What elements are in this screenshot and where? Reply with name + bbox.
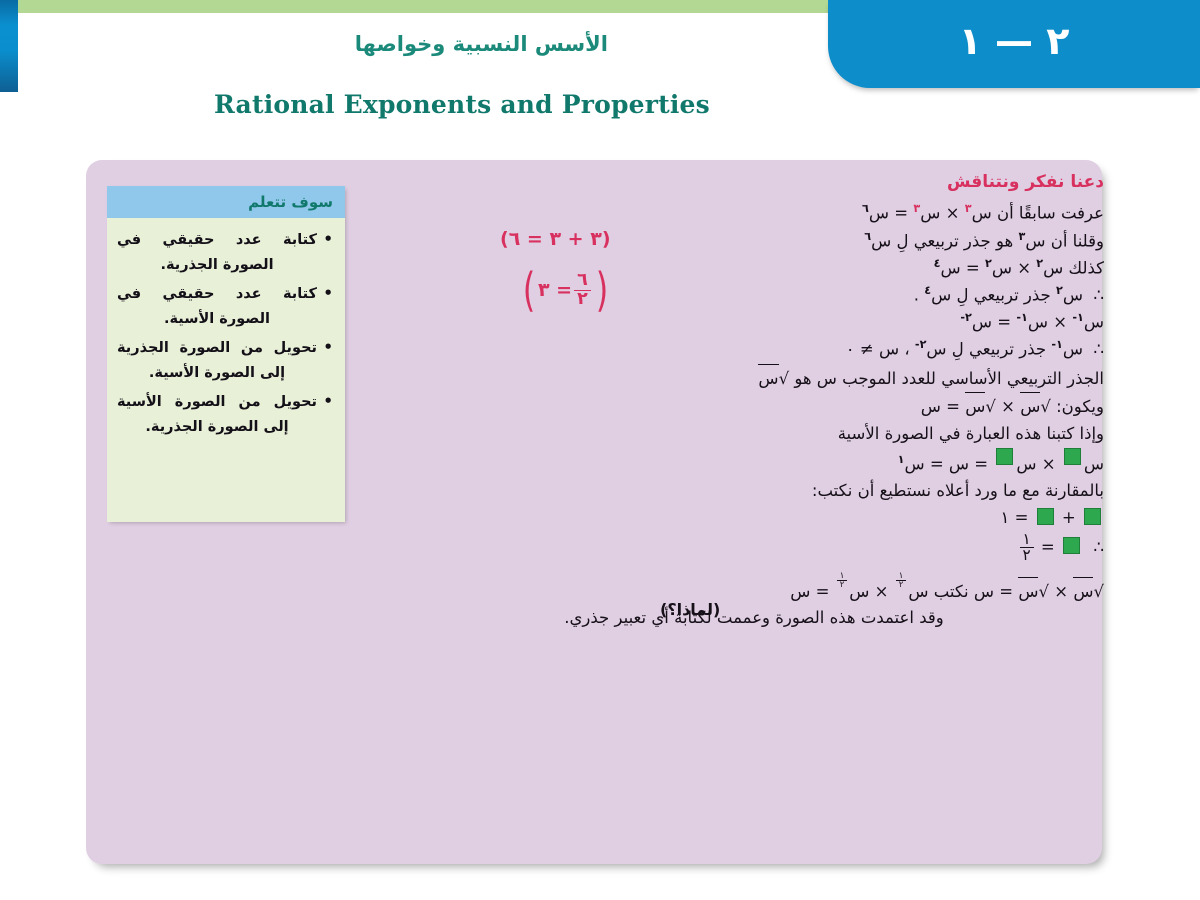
discussion-line-2: وقلنا أن س٣ هو جذر تربيعي لِ س٦ <box>404 228 1104 255</box>
list-item: تحويل من الصورة الأسية إلى الصورة الجذري… <box>117 390 333 440</box>
discussion-line-3: كذلك س٢ × س٢ = س٤ <box>404 255 1104 282</box>
fraction-one-half: ١ ٢ <box>1020 532 1034 564</box>
discussion-heading: دعنا نفكر ونتناقش <box>404 172 1104 192</box>
page-title-arabic: الأسس النسبية وخواصها <box>355 32 608 56</box>
why-note: (لماذا؟) <box>660 600 720 619</box>
page-title-english: Rational Exponents and Properties <box>214 90 710 119</box>
discussion-line-15: وقد اعتمدت هذه الصورة وعممت لكتابة أي تع… <box>404 605 1104 632</box>
fraction-denominator: ٢ <box>1020 548 1034 563</box>
lesson-number-label: ٢ — ١ <box>828 0 1200 88</box>
left-blue-accent-bar <box>0 0 18 92</box>
list-item: تحويل من الصورة الجذرية إلى الصورة الأسي… <box>117 336 333 386</box>
green-placeholder-box <box>1084 508 1101 525</box>
discussion-line-7: الجذر التربيعي الأساسي للعدد الموجب س هو… <box>404 364 1104 393</box>
green-placeholder-box <box>1064 448 1081 465</box>
discussion-line-12: + = ١ <box>404 505 1104 532</box>
fraction-one-half: ١٢ <box>896 572 907 590</box>
discussion-line-9: وإذا كتبنا هذه العبارة في الصورة الأسية <box>404 421 1104 448</box>
discussion-section: دعنا نفكر ونتناقش عرفت سابقًا أن س٣ × س٣… <box>404 172 1104 632</box>
green-placeholder-box <box>1037 508 1054 525</box>
discussion-line-4: ∴ س٢ جذر تربيعي لِ س٤ . <box>404 282 1104 309</box>
objectives-box: سوف تتعلم كتابة عدد حقيقي في الصورة الجذ… <box>107 186 345 522</box>
objectives-header: سوف تتعلم <box>107 186 345 218</box>
discussion-line-1: عرفت سابقًا أن س٣ × س٣ = س٦ <box>404 200 1104 227</box>
discussion-line-13: ∴ = ١ ٢ <box>404 532 1104 572</box>
top-green-accent-bar <box>18 0 830 13</box>
list-item: كتابة عدد حقيقي في الصورة الجذرية. <box>117 228 333 278</box>
discussion-line-10: س × س = س = س١ <box>404 448 1104 478</box>
discussion-line-14: √س × √س = س نكتب س١٢ × س١٢ = س <box>404 572 1104 606</box>
green-placeholder-box <box>996 448 1013 465</box>
discussion-line-5: س١- × س١- = س٢- <box>404 309 1104 336</box>
fraction-one-half: ١٢ <box>837 572 848 590</box>
discussion-line-6: ∴ س١- جذر تربيعي لِ س٢- ، س ≠ ٠ <box>404 336 1104 363</box>
green-placeholder-box <box>1063 537 1080 554</box>
discussion-line-11: بالمقارنة مع ما ورد أعلاه نستطيع أن نكتب… <box>404 478 1104 505</box>
discussion-line-8: ويكون: √س × √س = س <box>404 392 1104 421</box>
list-item: كتابة عدد حقيقي في الصورة الأسية. <box>117 282 333 332</box>
textbook-page: ٢ — ١ الأسس النسبية وخواصها Rational Exp… <box>0 0 1200 900</box>
objectives-list: كتابة عدد حقيقي في الصورة الجذرية. كتابة… <box>107 218 345 452</box>
